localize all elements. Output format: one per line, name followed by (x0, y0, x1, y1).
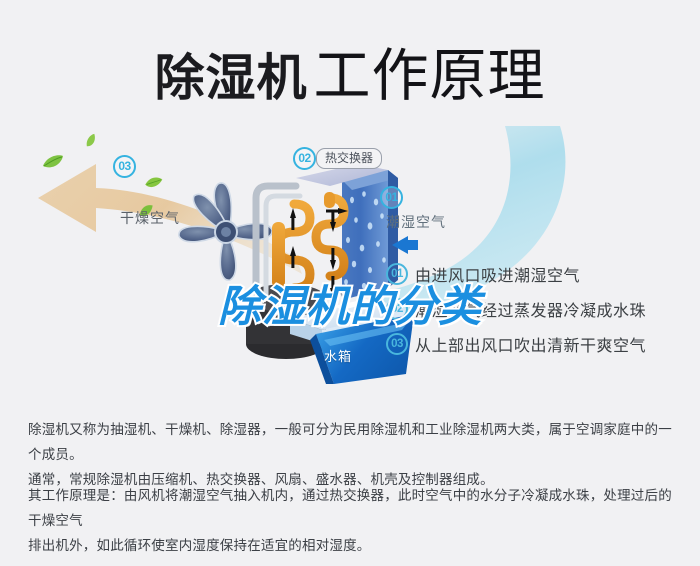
leaf-icon (142, 171, 164, 194)
callout-pointer-icon (336, 286, 352, 300)
page-title-part2: 工作原理 (314, 44, 546, 108)
description-paragraph-1: 除湿机又称为抽湿机、干燥机、除湿器，一般可分为民用除湿机和工业除湿机两大类，属于… (28, 417, 674, 492)
heat-exchanger-callout: 热交换器 (316, 148, 382, 169)
paragraph-1-line-1: 除湿机又称为抽湿机、干燥机、除湿器，一般可分为民用除湿机和工业除湿机两大类，属于… (28, 417, 674, 467)
dry-air-label: 干燥空气 (120, 208, 180, 228)
paragraph-2-line-1: 其工作原理是：由风机将潮湿空气抽入机内，通过热交换器，此时空气中的水分子冷凝成水… (28, 483, 674, 533)
moist-air-label: 潮湿空气 (386, 212, 446, 232)
diagram-badge-02: 02 (293, 147, 316, 170)
diagram-badge-01: 01 (380, 186, 403, 209)
paragraph-2-line-2: 排出机外，如此循环使室内湿度保持在适宜的相对湿度。 (28, 533, 674, 558)
page-title-part1: 除湿机 (155, 50, 308, 106)
legend-item: 01 由进风口吸进潮湿空气 (386, 256, 686, 291)
legend-label: 从上部出风口吹出清新干爽空气 (415, 332, 646, 356)
legend-number: 01 (386, 263, 408, 285)
legend-label: 潮湿空气经过蒸发器冷凝成水珠 (415, 297, 646, 321)
legend-number: 02 (386, 298, 408, 320)
diagram-badge-03: 03 (113, 155, 136, 178)
dehumidifier-infographic: 除湿机工作原理 (0, 0, 700, 566)
leaf-icon (42, 154, 64, 170)
legend-item: 03 从上部出风口吹出清新干爽空气 (386, 326, 686, 361)
legend-item: 02 潮湿空气经过蒸发器冷凝成水珠 (386, 291, 686, 326)
legend-list: 01 由进风口吸进潮湿空气 02 潮湿空气经过蒸发器冷凝成水珠 03 从上部出风… (386, 256, 686, 361)
description-paragraph-2: 其工作原理是：由风机将潮湿空气抽入机内，通过热交换器，此时空气中的水分子冷凝成水… (28, 483, 674, 558)
page-title: 除湿机工作原理 (0, 30, 700, 112)
leaf-icon (82, 133, 100, 150)
legend-number: 03 (386, 333, 408, 355)
water-tank-label: 水箱 (324, 346, 352, 365)
legend-label: 由进风口吸进潮湿空气 (415, 262, 580, 286)
